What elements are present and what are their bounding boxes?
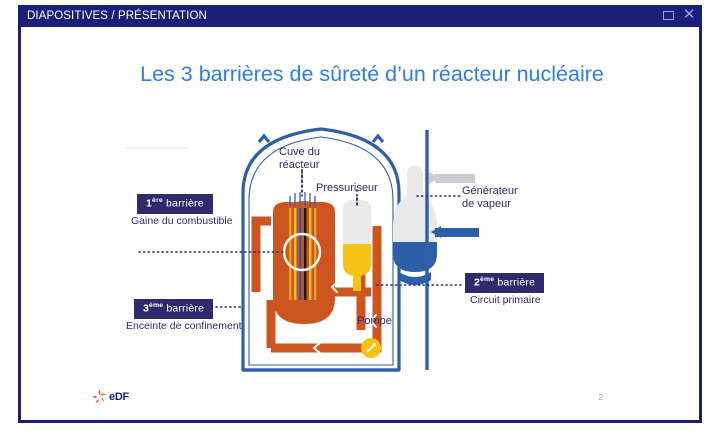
barrier-2-word: barrière bbox=[497, 277, 535, 289]
label-reactor-vessel-line2: réacteur bbox=[279, 159, 320, 172]
barrier-3-word: barrière bbox=[166, 303, 204, 315]
containment-notch-right bbox=[373, 136, 383, 142]
window-controls: ✕ bbox=[661, 7, 696, 23]
slide-canvas: Les 3 barrières de sûreté d’un réacteur … bbox=[21, 30, 699, 420]
containment-outline-outer bbox=[243, 129, 399, 370]
primary-circuit-piping bbox=[256, 221, 377, 348]
label-steam-generator: Générateur de vapeur bbox=[462, 185, 518, 211]
reactor-vessel bbox=[273, 192, 335, 324]
barrier-1-chip: 1ère barrière bbox=[137, 194, 213, 214]
barrier-2-chip: 2ème barrière bbox=[465, 273, 544, 293]
pressuriser bbox=[343, 200, 371, 291]
window-title: DIAPOSITIVES / PRÉSENTATION bbox=[18, 10, 207, 22]
reactor-diagram bbox=[21, 30, 699, 420]
barrier-1-caption: Gaine du combustible bbox=[131, 215, 233, 227]
leader-lines bbox=[139, 172, 464, 307]
steam-generator bbox=[393, 166, 479, 285]
fuel-rods bbox=[289, 208, 316, 300]
close-icon[interactable]: ✕ bbox=[682, 7, 696, 23]
barrier-3-caption: Enceinte de confinement bbox=[126, 320, 242, 332]
edf-logo: eDF bbox=[91, 388, 149, 406]
page-number: 2 bbox=[599, 393, 603, 402]
barrier-2-ordinal: ème bbox=[480, 276, 494, 283]
label-pressuriser: Pressuriseur bbox=[316, 182, 378, 195]
page-title: Les 3 barrières de sûreté d’un réacteur … bbox=[107, 62, 637, 87]
label-pump: Pompe bbox=[357, 315, 392, 328]
window-titlebar: DIAPOSITIVES / PRÉSENTATION ✕ bbox=[18, 5, 702, 27]
barrier-3-ordinal: ème bbox=[149, 302, 163, 309]
control-rod-pins bbox=[290, 192, 315, 206]
barrier-1-ordinal: ère bbox=[152, 197, 163, 204]
pump bbox=[361, 338, 381, 358]
edf-star-icon bbox=[91, 388, 108, 405]
barrier-2-caption: Circuit primaire bbox=[470, 294, 541, 306]
maximize-icon[interactable] bbox=[661, 7, 675, 23]
close-glyph: ✕ bbox=[683, 8, 696, 22]
label-steam-generator-line2: de vapeur bbox=[462, 198, 518, 211]
cladding-highlight-circle bbox=[284, 234, 320, 270]
barrier-1-word: barrière bbox=[166, 198, 204, 210]
label-reactor-vessel: Cuve du réacteur bbox=[279, 146, 320, 172]
edf-wordmark: eDF bbox=[109, 391, 129, 403]
barrier-3-chip: 3ème barrière bbox=[134, 299, 213, 319]
label-reactor-vessel-line1: Cuve du bbox=[279, 146, 320, 159]
label-steam-generator-line1: Générateur bbox=[462, 185, 518, 198]
presentation-window: DIAPOSITIVES / PRÉSENTATION ✕ Les 3 barr… bbox=[0, 0, 720, 436]
containment-notch-left bbox=[259, 136, 269, 142]
decorative-rule bbox=[126, 147, 188, 149]
containment-outline-inner bbox=[249, 137, 393, 365]
